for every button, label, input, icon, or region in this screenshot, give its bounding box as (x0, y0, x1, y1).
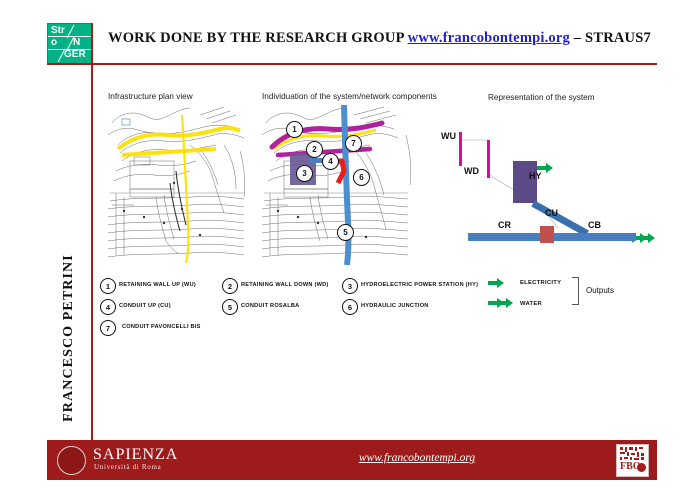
legend-label-2: RETAINING WALL DOWN (WD) (241, 282, 329, 288)
legend-label-6: HYDRAULIC JUNCTION (361, 303, 429, 309)
label-hy: HY (529, 171, 542, 181)
hydraulic-junction-block (540, 226, 554, 243)
outputs-bracket (572, 277, 579, 305)
title-suffix: – STRAUS7 (574, 30, 651, 46)
title-link[interactable]: www.francobontempi.org (408, 30, 570, 46)
slide: Str o N GER WORK DONE BY THE RESEARCH GR… (0, 0, 700, 495)
map-marker-4[interactable]: 4 (322, 153, 339, 170)
legend-bullet-5[interactable]: 5 (222, 299, 238, 315)
map-plan-view (104, 105, 250, 265)
label-cu: CU (545, 208, 558, 218)
map-marker-5[interactable]: 5 (337, 224, 354, 241)
legend-bullet-4[interactable]: 4 (100, 299, 116, 315)
legend-bullet-6[interactable]: 6 (342, 299, 358, 315)
legend-label-3: HYDROELECTRIC POWER STATION (HY) (361, 282, 478, 288)
outputs-title: Outputs (586, 286, 614, 295)
label-wd: WD (464, 166, 479, 176)
fbo-logo: FBO (616, 444, 649, 477)
map-components: 1 2 3 4 5 6 7 (258, 105, 418, 265)
map-marker-7[interactable]: 7 (345, 135, 362, 152)
legend-label-5: CONDUIT ROSALBA (241, 303, 299, 309)
retaining-wall-down-bar (487, 140, 490, 178)
components-legend: 1 RETAINING WALL UP (WU) 2 RETAINING WAL… (100, 278, 500, 340)
sapienza-seal-icon (57, 446, 86, 475)
author-name: FRANCESCO PETRINI (61, 243, 77, 433)
legend-label-7: CONDUIT PAVONCELLI BIS (122, 324, 201, 330)
output-label-water: WATER (520, 301, 542, 307)
output-label-electricity: ELECTRICITY (520, 280, 561, 286)
logo-line-2a: o (51, 37, 57, 49)
logo-line-2b: N (73, 37, 80, 49)
stronger-logo: Str o N GER (47, 23, 93, 65)
legend-label-4: CONDUIT UP (CU) (119, 303, 171, 309)
caption-right: Representation of the system (488, 93, 595, 102)
hydro-station-box (513, 161, 537, 203)
sidebar-rule (91, 23, 93, 443)
fbo-mark: FBO (620, 462, 641, 472)
caption-left: Infrastructure plan view (108, 92, 193, 101)
outputs-legend: ELECTRICITY WATER Outputs (486, 275, 621, 320)
legend-bullet-2[interactable]: 2 (222, 278, 238, 294)
page-title: WORK DONE BY THE RESEARCH GROUP www.fran… (108, 30, 648, 47)
label-cb: CB (588, 220, 601, 230)
footer-url-link[interactable]: www.francobontempi.org (287, 452, 547, 464)
title-prefix: WORK DONE BY THE RESEARCH GROUP (108, 30, 404, 46)
map-marker-2[interactable]: 2 (306, 141, 323, 158)
legend-bullet-1[interactable]: 1 (100, 278, 116, 294)
retaining-wall-up-bar (459, 132, 462, 166)
label-cr: CR (498, 220, 511, 230)
legend-bullet-7[interactable]: 7 (100, 320, 116, 336)
map-marker-3[interactable]: 3 (296, 165, 313, 182)
university-name: SAPIENZA (93, 446, 178, 463)
caption-middle: Individuation of the system/network comp… (262, 92, 437, 101)
logo-line-3: GER (64, 49, 86, 61)
university-subtitle: Università di Roma (94, 463, 161, 471)
header-rule (47, 63, 657, 65)
logo-line-1: Str (51, 25, 65, 37)
map-marker-1[interactable]: 1 (286, 121, 303, 138)
legend-bullet-3[interactable]: 3 (342, 278, 358, 294)
map-marker-6[interactable]: 6 (353, 169, 370, 186)
label-wu: WU (441, 131, 456, 141)
footer-bar: SAPIENZA Università di Roma www.francobo… (47, 440, 657, 480)
system-representation: WU WD HY CU CR CB (440, 128, 655, 263)
legend-label-1: RETAINING WALL UP (WU) (119, 282, 196, 288)
